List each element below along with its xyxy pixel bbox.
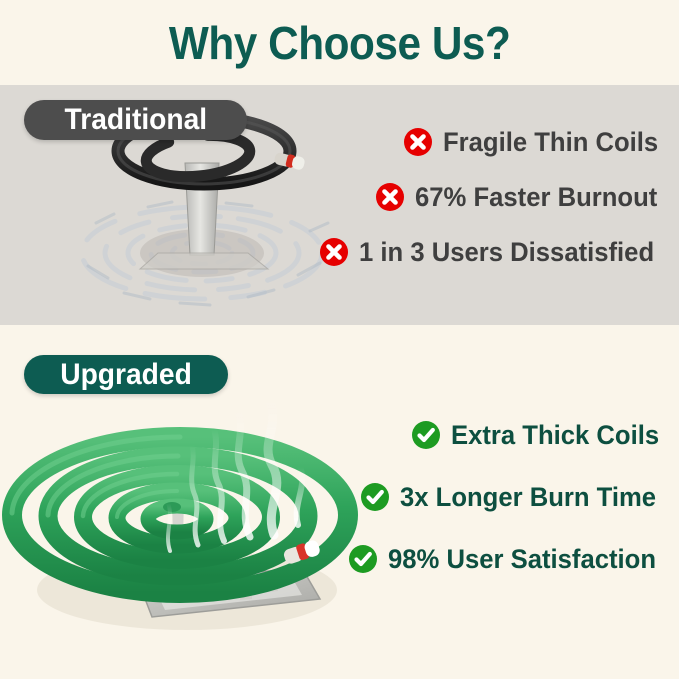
red-x-icon <box>403 127 433 157</box>
green-check-icon <box>348 544 378 574</box>
panel-upgraded: Upgraded Extra Thick Coils 3x Longer Bur… <box>0 325 679 679</box>
why-choose-us-infographic: Why Choose Us? <box>0 0 679 679</box>
traditional-bullet-list: Fragile Thin Coils 67% Faster Burnout 1 … <box>319 127 670 267</box>
green-check-icon <box>411 420 441 450</box>
list-item-label: 3x Longer Burn Time <box>400 484 656 511</box>
badge-traditional: Traditional <box>24 100 247 140</box>
list-item: 1 in 3 Users Dissatisfied <box>319 237 670 267</box>
list-item: Extra Thick Coils <box>411 420 670 450</box>
page-title: Why Choose Us? <box>169 20 511 66</box>
list-item-label: 98% User Satisfaction <box>388 546 656 573</box>
red-x-icon <box>319 237 349 267</box>
green-check-icon <box>360 482 390 512</box>
badge-upgraded: Upgraded <box>24 355 228 394</box>
upgraded-coil-illustration <box>2 385 372 650</box>
list-item: Fragile Thin Coils <box>403 127 670 157</box>
red-x-icon <box>375 182 405 212</box>
panel-traditional: Traditional Fragile Thin Coils 67% Faste… <box>0 85 679 325</box>
list-item-label: 67% Faster Burnout <box>415 184 657 211</box>
list-item-label: 1 in 3 Users Dissatisfied <box>359 239 654 266</box>
list-item: 3x Longer Burn Time <box>360 482 670 512</box>
list-item-label: Fragile Thin Coils <box>443 129 658 156</box>
list-item-label: Extra Thick Coils <box>451 422 659 449</box>
header: Why Choose Us? <box>0 0 679 85</box>
list-item: 98% User Satisfaction <box>348 544 670 574</box>
upgraded-bullet-list: Extra Thick Coils 3x Longer Burn Time 98… <box>348 420 670 574</box>
list-item: 67% Faster Burnout <box>375 182 670 212</box>
